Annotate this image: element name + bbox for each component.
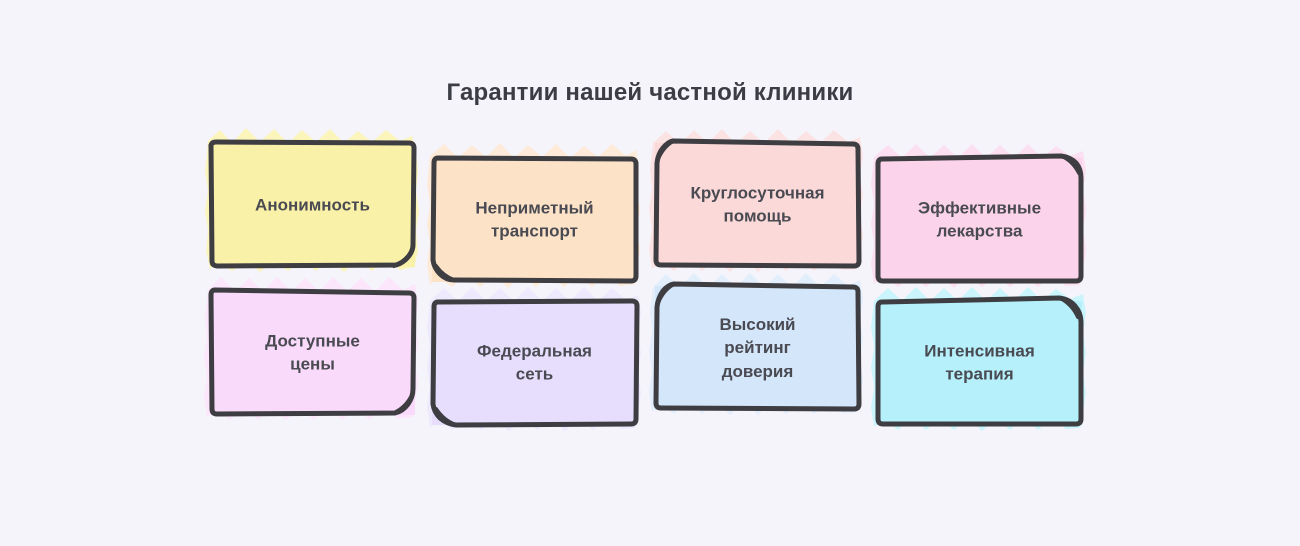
corner-curl	[394, 254, 410, 266]
card-label: Анонимность	[220, 193, 405, 216]
card-label: Доступные цены	[220, 330, 405, 377]
card-label: Высокий рейтинг доверия	[665, 313, 850, 383]
card-label: Интенсивная терапия	[887, 340, 1072, 387]
card-label: Эффективные лекарства	[887, 197, 1072, 244]
corner-curl	[436, 266, 454, 280]
page-title: Гарантии нашей частной клиники	[0, 79, 1300, 107]
guarantee-card-intensive-therapy[interactable]: Интенсивная терапия	[877, 301, 1082, 425]
guarantee-card-discreet-transport[interactable]: Неприметный транспорт	[432, 158, 637, 282]
guarantee-card-anonymity[interactable]: Анонимность	[210, 143, 415, 267]
card-label: Неприметный транспорт	[442, 197, 627, 244]
guarantee-card-grid: Анонимность Неприметный транспорт	[210, 143, 1090, 418]
card-label: Круглосуточная помощь	[665, 182, 850, 229]
corner-curl	[1060, 298, 1078, 317]
guarantee-card-affordable-prices[interactable]: Доступные цены	[210, 291, 415, 415]
guarantee-card-high-trust-rating[interactable]: Высокий рейтинг доверия	[655, 286, 860, 410]
infographic-canvas: Гарантии нашей частной клиники Анонимнос…	[0, 0, 1300, 546]
corner-curl	[658, 141, 673, 159]
corner-curl	[436, 409, 456, 425]
guarantee-card-effective-medicines[interactable]: Эффективные лекарства	[877, 158, 1082, 282]
corner-curl	[658, 284, 674, 303]
guarantee-card-federal-network[interactable]: Федеральная сеть	[432, 301, 637, 425]
guarantee-card-round-the-clock-help[interactable]: Круглосуточная помощь	[655, 143, 860, 267]
corner-curl	[1062, 156, 1079, 173]
corner-curl	[394, 397, 411, 413]
card-label: Федеральная сеть	[442, 340, 627, 387]
